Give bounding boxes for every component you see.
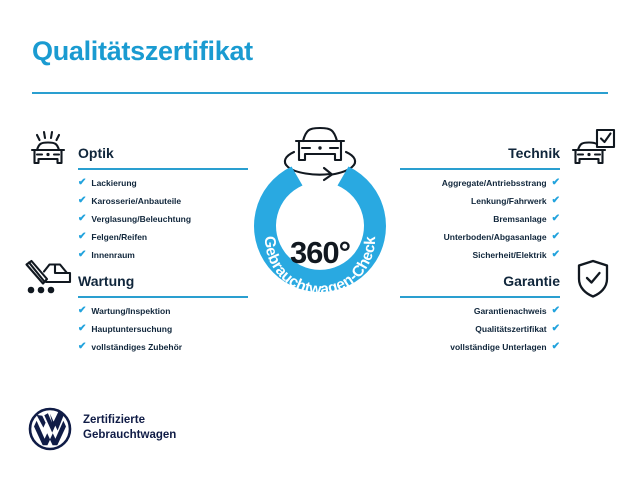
checklist: ✔ Lackierung ✔ Karosserie/Anbauteile ✔ V… — [78, 178, 248, 260]
check-icon: ✔ — [78, 196, 86, 206]
list-item: Lenkung/Fahrwerk ✔ — [400, 196, 560, 206]
check-icon: ✔ — [552, 232, 560, 242]
list-item: ✔ Wartung/Inspektion — [78, 306, 248, 316]
check-icon: ✔ — [78, 324, 86, 334]
list-item-label: Hauptuntersuchung — [91, 324, 172, 334]
section-wartung: Wartung ✔ Wartung/Inspektion ✔ Hauptunte… — [78, 268, 248, 360]
check-icon: ✔ — [552, 342, 560, 352]
page-title: Qualitätszertifikat — [32, 36, 253, 67]
section-header: Wartung — [78, 268, 248, 298]
list-item-label: Lenkung/Fahrwerk — [471, 196, 547, 206]
list-item: ✔ Lackierung — [78, 178, 248, 188]
section-title: Optik — [78, 145, 114, 161]
check-icon: ✔ — [78, 232, 86, 242]
checklist: Garantienachweis ✔ Qualitätszertifikat ✔… — [400, 306, 560, 352]
list-item-label: Innenraum — [91, 250, 134, 260]
section-optik: Optik ✔ Lackierung ✔ Karosserie/Anbautei… — [78, 140, 248, 268]
check-icon: ✔ — [78, 306, 86, 316]
list-item-label: Verglasung/Beleuchtung — [91, 214, 191, 224]
list-item: ✔ Innenraum — [78, 250, 248, 260]
list-item-label: Sicherheit/Elektrik — [472, 250, 546, 260]
list-item-label: Aggregate/Antriebsstrang — [442, 178, 547, 188]
car-service-tool-icon — [22, 258, 74, 302]
check-icon: ✔ — [78, 250, 86, 260]
section-technik: Technik Aggregate/Antriebsstrang ✔ Lenku… — [400, 140, 560, 268]
section-divider — [400, 296, 560, 298]
certificate-page: Qualitätszertifikat Optik ✔ — [0, 0, 640, 480]
list-item: ✔ Hauptuntersuchung — [78, 324, 248, 334]
list-item: ✔ vollständiges Zubehör — [78, 342, 248, 352]
list-item: Sicherheit/Elektrik ✔ — [400, 250, 560, 260]
check-icon: ✔ — [78, 178, 86, 188]
badge-360-gebrauchtwagen-check: Gebrauchtwagen-Check 360° — [238, 118, 402, 316]
section-header: Optik — [78, 140, 248, 170]
section-header: Technik — [400, 140, 560, 170]
list-item: Qualitätszertifikat ✔ — [400, 324, 560, 334]
list-item-label: Garantienachweis — [474, 306, 547, 316]
list-item: Unterboden/Abgasanlage ✔ — [400, 232, 560, 242]
footer-text: Zertifizierte Gebrauchtwagen — [83, 413, 176, 443]
list-item: vollständige Unterlagen ✔ — [400, 342, 560, 352]
list-item-label: Karosserie/Anbauteile — [91, 196, 181, 206]
section-title: Technik — [508, 145, 560, 161]
section-header: Garantie — [400, 268, 560, 298]
car-rotate-icon — [285, 128, 355, 180]
check-icon: ✔ — [552, 178, 560, 188]
check-icon: ✔ — [78, 342, 86, 352]
checklist: ✔ Wartung/Inspektion ✔ Hauptuntersuchung… — [78, 306, 248, 352]
check-icon: ✔ — [552, 214, 560, 224]
badge-value: 360° — [290, 235, 350, 271]
list-item-label: vollständiges Zubehör — [91, 342, 182, 352]
footer-line-2: Gebrauchtwagen — [83, 428, 176, 443]
header-divider — [32, 92, 608, 94]
shield-check-icon — [575, 258, 611, 300]
list-item: Garantienachweis ✔ — [400, 306, 560, 316]
list-item-label: Bremsanlage — [493, 214, 546, 224]
footer-line-1: Zertifizierte — [83, 413, 176, 428]
list-item: ✔ Karosserie/Anbauteile — [78, 196, 248, 206]
car-checkbox-icon — [570, 128, 616, 172]
list-item: Aggregate/Antriebsstrang ✔ — [400, 178, 560, 188]
section-divider — [78, 168, 248, 170]
section-divider — [400, 168, 560, 170]
check-icon: ✔ — [552, 196, 560, 206]
section-garantie: Garantie Garantienachweis ✔ Qualitätszer… — [400, 268, 560, 360]
list-item-label: Lackierung — [91, 178, 136, 188]
list-item: ✔ Verglasung/Beleuchtung — [78, 214, 248, 224]
list-item-label: Wartung/Inspektion — [91, 306, 170, 316]
check-icon: ✔ — [552, 250, 560, 260]
car-shine-icon — [24, 130, 72, 172]
list-item: ✔ Felgen/Reifen — [78, 232, 248, 242]
check-icon: ✔ — [78, 214, 86, 224]
list-item-label: Unterboden/Abgasanlage — [444, 232, 547, 242]
section-title: Garantie — [503, 273, 560, 289]
section-divider — [78, 296, 248, 298]
section-title: Wartung — [78, 273, 134, 289]
list-item: Bremsanlage ✔ — [400, 214, 560, 224]
list-item-label: Qualitätszertifikat — [475, 324, 546, 334]
check-icon: ✔ — [552, 306, 560, 316]
check-icon: ✔ — [552, 324, 560, 334]
list-item-label: vollständige Unterlagen — [450, 342, 546, 352]
vw-logo — [28, 407, 72, 451]
list-item-label: Felgen/Reifen — [91, 232, 147, 242]
checklist: Aggregate/Antriebsstrang ✔ Lenkung/Fahrw… — [400, 178, 560, 260]
